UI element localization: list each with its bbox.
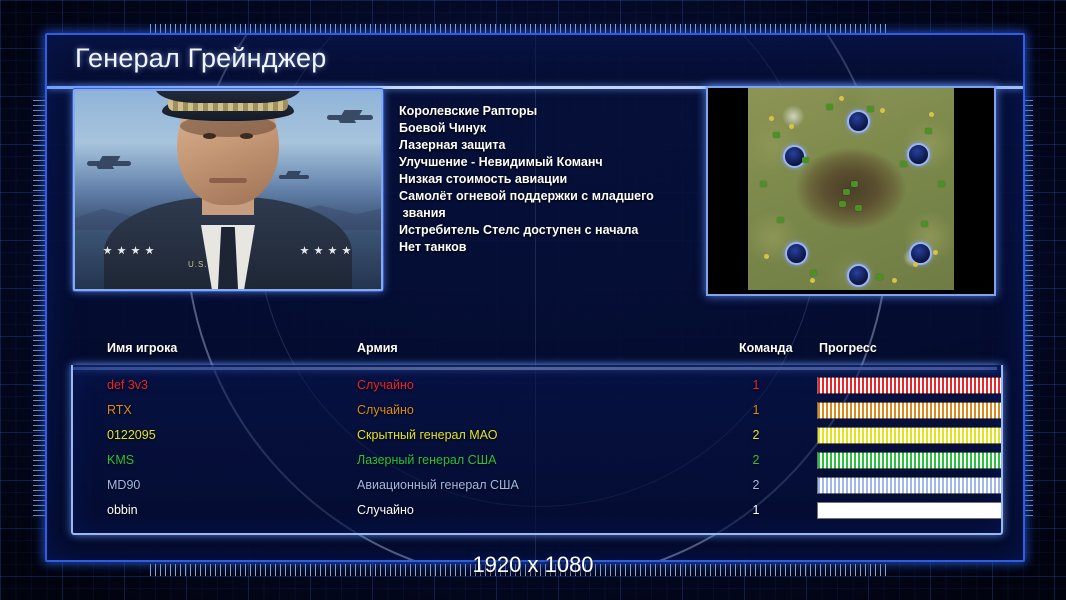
map-tree-cluster	[777, 217, 784, 223]
ability-line: Истребитель Стелс доступен с начала	[399, 222, 699, 239]
map-resource-marker	[880, 108, 885, 113]
ability-line: звания	[399, 205, 699, 222]
map-tree-cluster	[826, 104, 833, 110]
map-tree-cluster	[900, 161, 907, 167]
map-tree-cluster	[802, 157, 809, 163]
map-tree-cluster	[843, 189, 850, 195]
column-header-team: Команда	[739, 341, 793, 355]
map-resource-marker	[769, 116, 774, 121]
player-team-cell: 1	[745, 373, 767, 397]
table-row[interactable]: RTXСлучайно1	[73, 398, 1001, 422]
loading-panel: Генерал Грейнджер	[45, 33, 1025, 562]
map-tree-cluster	[921, 221, 928, 227]
map-resource-marker	[929, 112, 934, 117]
resolution-caption: 1920 x 1080	[0, 552, 1066, 578]
ability-line: Боевой Чинук	[399, 120, 699, 137]
map-spawn-marker-6[interactable]	[783, 145, 806, 168]
player-progress-bar	[817, 427, 1003, 444]
map-resource-marker	[764, 254, 769, 259]
map-resource-marker	[933, 250, 938, 255]
map-preview-image	[748, 88, 954, 290]
player-team-cell: 2	[745, 423, 767, 447]
rank-stars-left	[103, 246, 154, 255]
table-row[interactable]: MD90Авиационный генерал США2	[73, 473, 1001, 497]
player-army-cell: Случайно	[357, 398, 414, 422]
player-progress-bar	[817, 502, 1003, 519]
player-army-cell: Лазерный генерал США	[357, 448, 496, 472]
player-progress-bar	[817, 402, 1003, 419]
player-progress-bar	[817, 477, 1003, 494]
player-name-cell: obbin	[107, 498, 138, 522]
table-row[interactable]: KMSЛазерный генерал США2	[73, 448, 1001, 472]
map-resource-marker	[892, 278, 897, 283]
table-row[interactable]: 0122095Скрытный генерал МАО2	[73, 423, 1001, 447]
player-army-cell: Случайно	[357, 498, 414, 522]
player-name-cell: RTX	[107, 398, 132, 422]
general-abilities-list: Королевские РапторыБоевой ЧинукЛазерная …	[399, 103, 699, 256]
aircraft-icon	[87, 161, 131, 166]
player-team-cell: 1	[745, 398, 767, 422]
title-bar: Генерал Грейнджер	[47, 35, 1023, 86]
player-army-cell: Скрытный генерал МАО	[357, 423, 497, 447]
map-tree-cluster	[839, 201, 846, 207]
page-title: Генерал Грейнджер	[75, 43, 326, 74]
player-table: def 3v3Случайно1RTXСлучайно10122095Скрыт…	[71, 365, 1003, 535]
ability-line: Лазерная защита	[399, 137, 699, 154]
ability-line: Самолёт огневой поддержки с младшего	[399, 188, 699, 205]
player-name-cell: def 3v3	[107, 373, 148, 397]
map-spawn-marker-4[interactable]	[785, 242, 808, 265]
player-table-header: Имя игрока Армия Команда Прогресс	[73, 341, 997, 365]
map-resource-marker	[839, 96, 844, 101]
player-name-cell: 0122095	[107, 423, 156, 447]
map-tree-cluster	[760, 181, 767, 187]
column-header-army: Армия	[357, 341, 398, 355]
ability-line: Нет танков	[399, 239, 699, 256]
player-name-cell: KMS	[107, 448, 134, 472]
map-resource-marker	[789, 124, 794, 129]
eye-left	[203, 133, 216, 139]
map-resource-marker	[810, 278, 815, 283]
map-tree-cluster	[867, 106, 874, 112]
map-tree-cluster	[938, 181, 945, 187]
aircraft-icon	[327, 115, 373, 120]
player-team-cell: 2	[745, 473, 767, 497]
map-tree-cluster	[855, 205, 862, 211]
map-tree-cluster	[925, 128, 932, 134]
general-portrait-frame: U.S.	[73, 89, 383, 291]
map-preview-frame	[706, 86, 996, 296]
column-header-progress: Прогресс	[819, 341, 877, 355]
map-spawn-marker-5[interactable]	[909, 242, 932, 265]
player-progress-bar	[817, 452, 1003, 469]
helicopter-icon	[279, 175, 309, 179]
eye-right	[240, 133, 253, 139]
player-army-cell: Авиационный генерал США	[357, 473, 519, 497]
map-tree-cluster	[851, 181, 858, 187]
us-insignia: U.S.	[188, 260, 208, 269]
map-tree-cluster	[810, 270, 817, 276]
map-spawn-marker-2[interactable]	[847, 110, 870, 133]
ruler-left-decoration	[33, 100, 45, 520]
rank-stars-right	[300, 246, 351, 255]
map-tree-cluster	[876, 274, 883, 280]
ability-line: Королевские Рапторы	[399, 103, 699, 120]
general-portrait-image: U.S.	[75, 91, 381, 289]
ability-line: Улучшение - Невидимый Команч	[399, 154, 699, 171]
game-screen: Генерал Грейнджер	[0, 0, 1066, 600]
table-row[interactable]: def 3v3Случайно1	[73, 373, 1001, 397]
ability-line: Низкая стоимость авиации	[399, 171, 699, 188]
mouth	[209, 178, 247, 183]
player-team-cell: 2	[745, 448, 767, 472]
military-cap	[155, 89, 301, 103]
map-spawn-marker-1[interactable]	[907, 143, 930, 166]
map-resource-marker	[913, 262, 918, 267]
player-progress-bar	[817, 377, 1003, 394]
player-team-cell: 1	[745, 498, 767, 522]
player-army-cell: Случайно	[357, 373, 414, 397]
column-header-player: Имя игрока	[107, 341, 177, 355]
map-tree-cluster	[773, 132, 780, 138]
necktie	[218, 227, 238, 289]
map-spawn-marker-3[interactable]	[847, 264, 870, 287]
player-name-cell: MD90	[107, 473, 140, 497]
table-row[interactable]: obbinСлучайно1	[73, 498, 1001, 522]
